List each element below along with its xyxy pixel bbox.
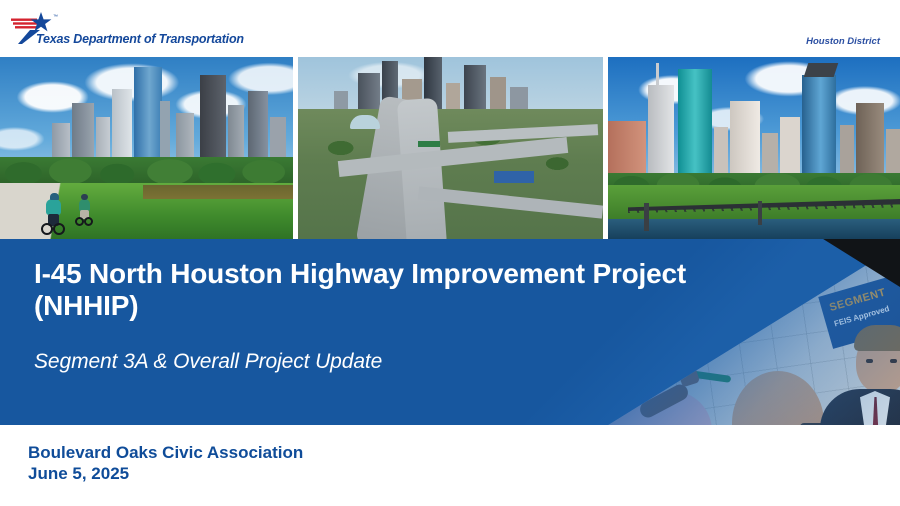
svg-text:™: ™ — [53, 14, 58, 20]
slide-footer — [0, 425, 900, 506]
page-title: I-45 North Houston Highway Improvement P… — [34, 258, 794, 321]
txdot-logo: ™ Texas Department of Transportation — [8, 8, 228, 52]
page-subtitle: Segment 3A & Overall Project Update — [34, 350, 734, 374]
slide-header: ™ Texas Department of Transportation Hou… — [0, 0, 900, 57]
footer-date: June 5, 2025 — [28, 464, 129, 484]
district-label: Houston District — [806, 36, 880, 47]
photo-downtown-skyline-bayou-bridge — [608, 57, 900, 239]
txdot-logo-wordmark: Texas Department of Transportation — [36, 32, 244, 46]
photo-aerial-highway-interchange-downtown — [298, 57, 603, 239]
photo-cyclists-bayou-trail-skyline — [0, 57, 293, 239]
header-photo-strip — [0, 57, 900, 239]
footer-organization: Boulevard Oaks Civic Association — [28, 443, 303, 463]
slide-root: ™ Texas Department of Transportation Hou… — [0, 0, 900, 506]
